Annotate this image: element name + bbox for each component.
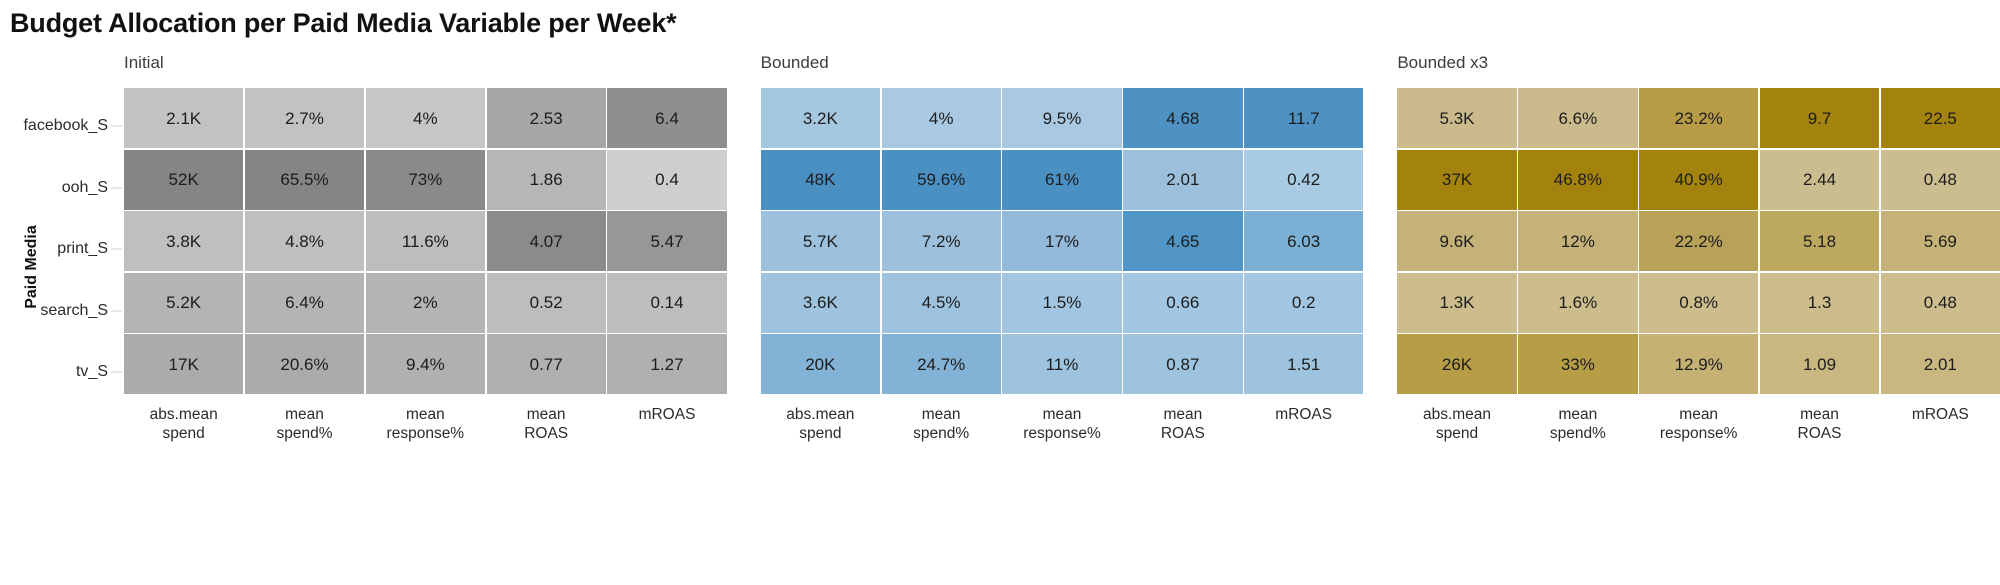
heatmap-cell[interactable]: 73% bbox=[366, 150, 485, 210]
y-axis-label-ooh-s: ooh_S bbox=[62, 179, 108, 197]
heatmap-cell[interactable]: 0.48 bbox=[1881, 273, 2000, 333]
heatmap-cell[interactable]: 5.47 bbox=[607, 211, 726, 271]
y-axis-label-facebook-s: facebook_S bbox=[23, 117, 108, 135]
heatmap-cell[interactable]: 2.01 bbox=[1123, 150, 1242, 210]
x-axis-label: mROAS bbox=[607, 406, 726, 444]
heatmap-cell[interactable]: 37K bbox=[1397, 150, 1516, 210]
heatmap-cell[interactable]: 17% bbox=[1002, 211, 1121, 271]
y-axis-tick bbox=[111, 249, 122, 250]
heatmap-cell[interactable]: 0.14 bbox=[607, 273, 726, 333]
heatmap-cell[interactable]: 22.2% bbox=[1639, 211, 1758, 271]
heatmap-cell[interactable]: 6.4% bbox=[245, 273, 364, 333]
heatmap-cell[interactable]: 0.4 bbox=[607, 150, 726, 210]
heatmap-cell[interactable]: 1.27 bbox=[607, 334, 726, 394]
heatmap-cell[interactable]: 11.6% bbox=[366, 211, 485, 271]
heatmap-cell[interactable]: 48K bbox=[761, 150, 880, 210]
heatmap-cell[interactable]: 5.69 bbox=[1881, 211, 2000, 271]
heatmap-cell[interactable]: 4.5% bbox=[882, 273, 1001, 333]
heatmap-cell[interactable]: 4.8% bbox=[245, 211, 364, 271]
y-axis-label-search-s: search_S bbox=[40, 302, 108, 320]
x-axis-label: mean spend% bbox=[1518, 406, 1637, 444]
y-axis-labels: facebook_Sooh_Sprint_Ssearch_Stv_S bbox=[10, 96, 122, 396]
heatmap-cell[interactable]: 11% bbox=[1002, 334, 1121, 394]
heatmap-cell[interactable]: 22.5 bbox=[1881, 88, 2000, 148]
heatmap-cell[interactable]: 0.42 bbox=[1244, 150, 1363, 210]
heatmap-cell[interactable]: 9.6K bbox=[1397, 211, 1516, 271]
heatmap-cell[interactable]: 52K bbox=[124, 150, 243, 210]
heatmap-cell[interactable]: 5.3K bbox=[1397, 88, 1516, 148]
heatmap-cell[interactable]: 4.65 bbox=[1123, 211, 1242, 271]
heatmap-cell[interactable]: 1.3K bbox=[1397, 273, 1516, 333]
heatmap-cell[interactable]: 2% bbox=[366, 273, 485, 333]
y-axis-tick bbox=[111, 187, 122, 188]
heatmap-cell[interactable]: 2.1K bbox=[124, 88, 243, 148]
heatmap-cell[interactable]: 0.2 bbox=[1244, 273, 1363, 333]
heatmap-cell[interactable]: 0.66 bbox=[1123, 273, 1242, 333]
heatmap-grid: 5.3K6.6%23.2%9.722.537K46.8%40.9%2.440.4… bbox=[1397, 88, 2000, 394]
heatmap-cell[interactable]: 17K bbox=[124, 334, 243, 394]
heatmap-cell[interactable]: 9.5% bbox=[1002, 88, 1121, 148]
heatmap-cell[interactable]: 24.7% bbox=[882, 334, 1001, 394]
heatmap-cell[interactable]: 1.09 bbox=[1760, 334, 1879, 394]
panel-title: Bounded bbox=[761, 52, 1364, 74]
heatmap-cell[interactable]: 9.7 bbox=[1760, 88, 1879, 148]
heatmap-cell[interactable]: 0.52 bbox=[487, 273, 606, 333]
x-axis-labels: abs.mean spendmean spend%mean response%m… bbox=[1397, 406, 2000, 444]
panel-initial: Initial2.1K2.7%4%2.536.452K65.5%73%1.860… bbox=[124, 52, 727, 444]
heatmap-cell[interactable]: 26K bbox=[1397, 334, 1516, 394]
heatmap-cell[interactable]: 2.7% bbox=[245, 88, 364, 148]
heatmap-cell[interactable]: 1.51 bbox=[1244, 334, 1363, 394]
heatmap-cell[interactable]: 5.18 bbox=[1760, 211, 1879, 271]
heatmap-cell[interactable]: 1.6% bbox=[1518, 273, 1637, 333]
heatmap-cell[interactable]: 4.07 bbox=[487, 211, 606, 271]
heatmap-cell[interactable]: 11.7 bbox=[1244, 88, 1363, 148]
heatmap-cell[interactable]: 2.53 bbox=[487, 88, 606, 148]
heatmap-cell[interactable]: 5.2K bbox=[124, 273, 243, 333]
heatmap-cell[interactable]: 0.48 bbox=[1881, 150, 2000, 210]
chart-page: Budget Allocation per Paid Media Variabl… bbox=[0, 0, 2000, 585]
x-axis-label: abs.mean spend bbox=[761, 406, 880, 444]
heatmap-cell[interactable]: 4% bbox=[366, 88, 485, 148]
page-title: Budget Allocation per Paid Media Variabl… bbox=[10, 8, 677, 39]
heatmap-cell[interactable]: 9.4% bbox=[366, 334, 485, 394]
x-axis-label: mean spend% bbox=[882, 406, 1001, 444]
heatmap-cell[interactable]: 1.86 bbox=[487, 150, 606, 210]
heatmap-cell[interactable]: 3.2K bbox=[761, 88, 880, 148]
heatmap-grid: 3.2K4%9.5%4.6811.748K59.6%61%2.010.425.7… bbox=[761, 88, 1364, 394]
y-axis-label-print-s: print_S bbox=[57, 240, 108, 258]
heatmap-cell[interactable]: 2.01 bbox=[1881, 334, 2000, 394]
heatmap-cell[interactable]: 61% bbox=[1002, 150, 1121, 210]
x-axis-label: mean response% bbox=[366, 406, 485, 444]
heatmap-cell[interactable]: 5.7K bbox=[761, 211, 880, 271]
heatmap-cell[interactable]: 7.2% bbox=[882, 211, 1001, 271]
heatmap-cell[interactable]: 4% bbox=[882, 88, 1001, 148]
heatmap-cell[interactable]: 3.8K bbox=[124, 211, 243, 271]
x-axis-label: mean spend% bbox=[245, 406, 364, 444]
x-axis-labels: abs.mean spendmean spend%mean response%m… bbox=[761, 406, 1364, 444]
y-axis-tick bbox=[111, 310, 122, 311]
heatmap-cell[interactable]: 2.44 bbox=[1760, 150, 1879, 210]
heatmap-cell[interactable]: 3.6K bbox=[761, 273, 880, 333]
x-axis-label: mROAS bbox=[1881, 406, 2000, 444]
heatmap-cell[interactable]: 46.8% bbox=[1518, 150, 1637, 210]
x-axis-label: abs.mean spend bbox=[1397, 406, 1516, 444]
heatmap-cell[interactable]: 0.87 bbox=[1123, 334, 1242, 394]
x-axis-label: mean ROAS bbox=[1123, 406, 1242, 444]
heatmap-cell[interactable]: 4.68 bbox=[1123, 88, 1242, 148]
heatmap-cell[interactable]: 20.6% bbox=[245, 334, 364, 394]
x-axis-label: mean ROAS bbox=[1760, 406, 1879, 444]
heatmap-cell[interactable]: 1.5% bbox=[1002, 273, 1121, 333]
heatmap-cell[interactable]: 59.6% bbox=[882, 150, 1001, 210]
heatmap-cell[interactable]: 65.5% bbox=[245, 150, 364, 210]
heatmap-cell[interactable]: 0.77 bbox=[487, 334, 606, 394]
heatmap-cell[interactable]: 6.03 bbox=[1244, 211, 1363, 271]
heatmap-cell[interactable]: 33% bbox=[1518, 334, 1637, 394]
heatmap-cell[interactable]: 6.4 bbox=[607, 88, 726, 148]
x-axis-labels: abs.mean spendmean spend%mean response%m… bbox=[124, 406, 727, 444]
y-axis-label-tv-s: tv_S bbox=[76, 363, 108, 381]
heatmap-cell[interactable]: 1.3 bbox=[1760, 273, 1879, 333]
heatmap-grid: 2.1K2.7%4%2.536.452K65.5%73%1.860.43.8K4… bbox=[124, 88, 727, 394]
heatmap-cell[interactable]: 23.2% bbox=[1639, 88, 1758, 148]
heatmap-cell[interactable]: 6.6% bbox=[1518, 88, 1637, 148]
y-axis-tick bbox=[111, 372, 122, 373]
heatmap-cell[interactable]: 12% bbox=[1518, 211, 1637, 271]
panels-container: Initial2.1K2.7%4%2.536.452K65.5%73%1.860… bbox=[124, 52, 2000, 444]
x-axis-label: mean ROAS bbox=[487, 406, 606, 444]
panel-bounded: Bounded3.2K4%9.5%4.6811.748K59.6%61%2.01… bbox=[761, 52, 1364, 444]
heatmap-cell[interactable]: 20K bbox=[761, 334, 880, 394]
heatmap-cell[interactable]: 40.9% bbox=[1639, 150, 1758, 210]
x-axis-label: mROAS bbox=[1244, 406, 1363, 444]
x-axis-label: mean response% bbox=[1002, 406, 1121, 444]
y-axis-tick bbox=[111, 126, 122, 127]
panel-bounded-x3: Bounded x35.3K6.6%23.2%9.722.537K46.8%40… bbox=[1397, 52, 2000, 444]
panel-title: Initial bbox=[124, 52, 727, 74]
heatmap-cell[interactable]: 0.8% bbox=[1639, 273, 1758, 333]
x-axis-label: mean response% bbox=[1639, 406, 1758, 444]
x-axis-label: abs.mean spend bbox=[124, 406, 243, 444]
heatmap-cell[interactable]: 12.9% bbox=[1639, 334, 1758, 394]
panel-title: Bounded x3 bbox=[1397, 52, 2000, 74]
